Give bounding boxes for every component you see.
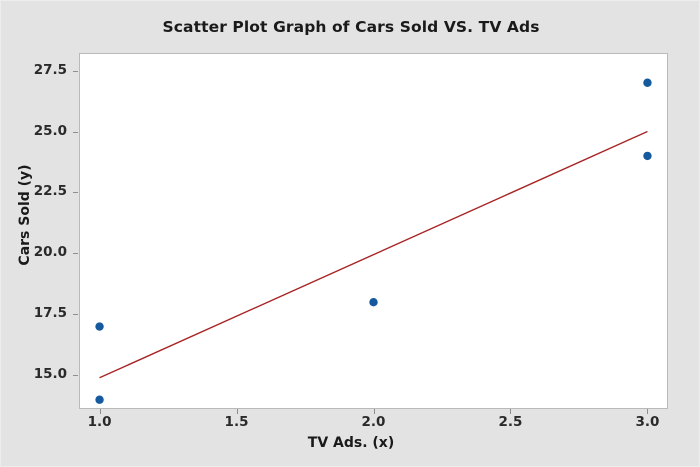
x-tick-mark	[510, 409, 511, 414]
y-tick-label: 27.5	[9, 62, 67, 78]
x-tick-mark	[237, 409, 238, 414]
x-tick-label: 2.5	[475, 414, 545, 430]
y-tick-mark	[73, 192, 78, 193]
data-point	[95, 322, 103, 330]
chart-figure: Scatter Plot Graph of Cars Sold VS. TV A…	[0, 0, 700, 467]
chart-title: Scatter Plot Graph of Cars Sold VS. TV A…	[1, 18, 700, 36]
data-point	[95, 396, 103, 404]
x-tick-mark	[100, 409, 101, 414]
x-tick-mark	[374, 409, 375, 414]
data-point	[643, 152, 651, 160]
data-points-group	[95, 79, 651, 404]
plot-canvas	[79, 53, 668, 409]
y-tick-mark	[73, 253, 78, 254]
y-tick-mark	[73, 71, 78, 72]
trend-line	[100, 132, 648, 378]
x-tick-label: 1.5	[202, 414, 272, 430]
x-tick-label: 3.0	[612, 414, 682, 430]
x-tick-label: 1.0	[65, 414, 135, 430]
x-tick-mark	[647, 409, 648, 414]
y-tick-mark	[73, 375, 78, 376]
x-axis-title: TV Ads. (x)	[1, 435, 700, 451]
data-point	[643, 79, 651, 87]
data-point	[369, 298, 377, 306]
y-tick-label: 15.0	[9, 366, 67, 382]
y-tick-mark	[73, 314, 78, 315]
x-tick-label: 2.0	[339, 414, 409, 430]
regression-line	[100, 132, 648, 378]
y-tick-mark	[73, 132, 78, 133]
y-axis-title: Cars Sold (y)	[17, 115, 33, 315]
